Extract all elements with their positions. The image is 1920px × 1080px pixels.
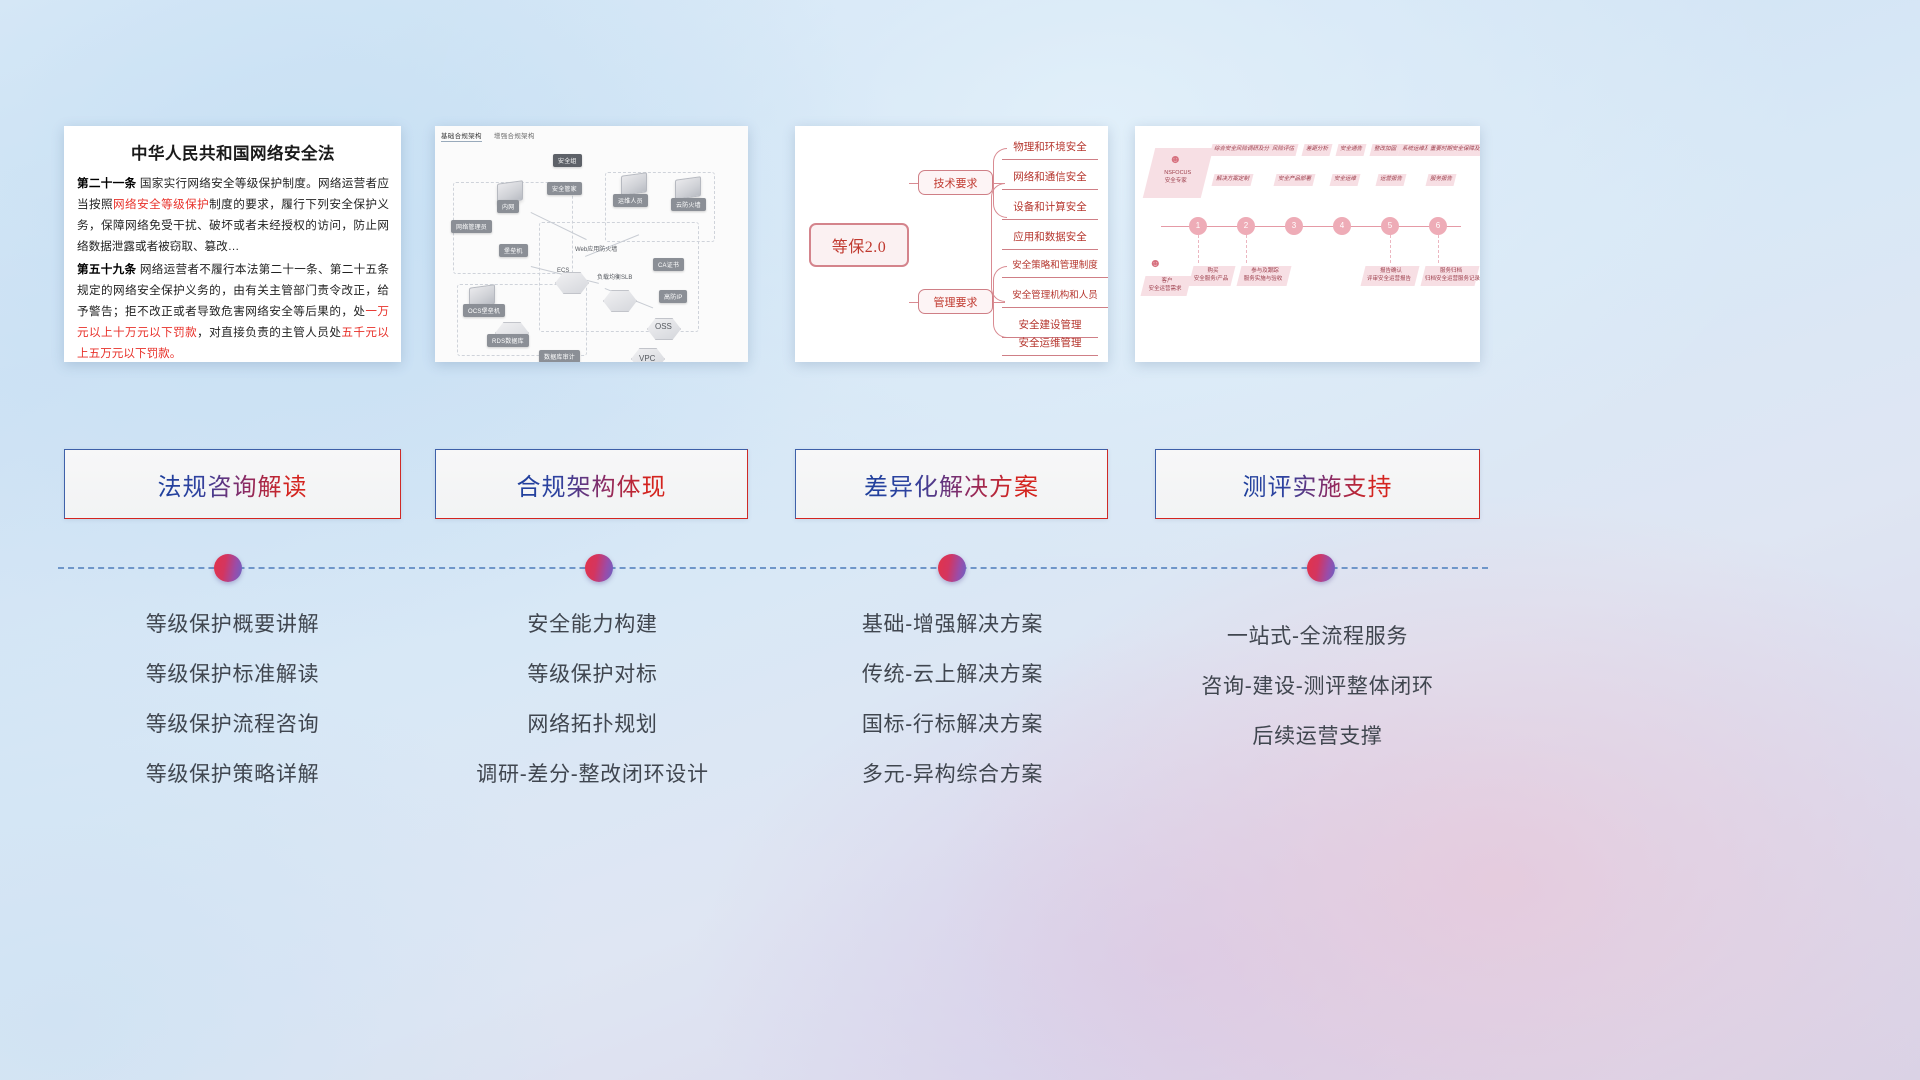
card-mindmap-djcp[interactable]: 等保2.0 技术要求 管理要求 物理和环境安全 网络和通信安全 设备和计算安全 …: [795, 126, 1108, 362]
expert-person-icon: ☻: [1169, 152, 1182, 166]
section-header-compliance-architecture[interactable]: 合规架构体现: [435, 449, 748, 519]
section-header-label: 法规咨询解读: [158, 467, 308, 502]
timeline-dot-2[interactable]: [585, 554, 613, 582]
arch-node-label: CA证书: [653, 258, 684, 271]
list-item: 国标-行标解决方案: [790, 700, 1115, 750]
bottom-tag-sub: 评审安全运营报告: [1365, 276, 1413, 284]
arch-node-label: 网络管理员: [451, 220, 492, 233]
bottom-tag-title: 服务归档: [1427, 268, 1475, 276]
bottom-tag: 购买 安全服务/产品: [1189, 266, 1236, 286]
arch-node-label: 安全管家: [547, 182, 582, 195]
step-number: 3: [1285, 217, 1303, 235]
arch-node-label: RDS数据库: [487, 334, 529, 347]
architecture-diagram: 基础合规架构 增强合规架构 安全组 内网 网络管理员 堡垒机: [435, 126, 748, 362]
arch-node-label: 内网: [497, 200, 519, 213]
section-header-label: 差异化解决方案: [864, 467, 1039, 502]
mindmap: 等保2.0 技术要求 管理要求 物理和环境安全 网络和通信安全 设备和计算安全 …: [795, 126, 1108, 362]
step-connector: [1438, 235, 1439, 263]
timeline: [58, 567, 1488, 569]
section-headers-row: 法规咨询解读 合规架构体现 差异化解决方案 测评实施支持: [0, 449, 1920, 519]
tab-basic-architecture[interactable]: 基础合规架构: [441, 133, 482, 142]
mindmap-leaf: 网络和通信安全: [1002, 168, 1098, 190]
arch-node-label: 堡垒机: [499, 244, 528, 257]
card-service-flow[interactable]: NSFOCUS 安全专家 ☻ 综合安全风险调研及分析 风险评估 差距分析 安全通…: [1135, 126, 1480, 362]
mindmap-leaf: 设备和计算安全: [1002, 198, 1098, 220]
top-tag: 差距分析: [1302, 144, 1333, 156]
section-header-differentiated-solution[interactable]: 差异化解决方案: [795, 449, 1108, 519]
article-59-label: 第五十九条: [77, 263, 136, 276]
architecture-tabs[interactable]: 基础合规架构 增强合规架构: [441, 130, 545, 140]
mid-tag: 解决方案定制: [1212, 174, 1254, 186]
bottom-tag-title: 报告确认: [1367, 268, 1415, 276]
arch-node-label: ECS: [557, 268, 569, 274]
top-cards-row: 中华人民共和国网络安全法 第二十一条 国家实行网络安全等级保护制度。网络运营者应…: [0, 126, 1920, 362]
bottom-tag-title: 参与及跟踪: [1243, 268, 1287, 276]
mindmap-root-link-mgmt: [909, 302, 918, 303]
timeline-dot-3[interactable]: [938, 554, 966, 582]
mindmap-branch-technical: 技术要求: [918, 170, 993, 195]
card-cybersecurity-law[interactable]: 中华人民共和国网络安全法 第二十一条 国家实行网络安全等级保护制度。网络运营者应…: [64, 126, 401, 362]
mid-tag: 服务报告: [1426, 174, 1457, 186]
customer-badge: 客户 安全运营需求: [1141, 276, 1192, 296]
section-header-label: 测评实施支持: [1243, 467, 1393, 502]
step-connector: [1198, 235, 1199, 263]
watermark-security-group: 安全组: [553, 154, 582, 167]
arch-node-label: Web应用防火墙: [575, 244, 617, 253]
expert-sub: 安全专家: [1150, 178, 1202, 186]
list-item: 调研-差分-整改闭环设计: [420, 750, 765, 800]
section-header-regulation-consulting[interactable]: 法规咨询解读: [64, 449, 401, 519]
step-number: 6: [1429, 217, 1447, 235]
list-item: 多元-异构综合方案: [790, 750, 1115, 800]
top-tag: 风险评估: [1268, 144, 1299, 156]
service-flow-diagram: NSFOCUS 安全专家 ☻ 综合安全风险调研及分析 风险评估 差距分析 安全通…: [1135, 126, 1480, 362]
arch-node-label: 负载均衡SLB: [597, 272, 632, 281]
mindmap-root-node: 等保2.0: [809, 223, 909, 267]
step-connector: [1390, 235, 1391, 263]
arch-node-label: VPC: [639, 354, 655, 362]
list-item: 一站式-全流程服务: [1140, 612, 1495, 662]
bottom-tag-sub: 服务实施与验收: [1241, 276, 1285, 284]
list-item: 后续运营支撑: [1140, 712, 1495, 762]
timeline-dashed-line: [58, 567, 1488, 569]
list-item: 网络拓扑规划: [420, 700, 765, 750]
bottom-tag-title: 购买: [1195, 268, 1231, 276]
list-item: 等级保护标准解读: [64, 650, 401, 700]
timeline-dot-1[interactable]: [214, 554, 242, 582]
mindmap-leaf: 安全运维管理: [1002, 334, 1098, 356]
node-icon-3: [675, 176, 701, 200]
bottom-tag: 参与及跟踪 服务实施与验收: [1237, 266, 1292, 286]
mid-tag: 运营报告: [1376, 174, 1407, 186]
card-compliance-architecture[interactable]: 基础合规架构 增强合规架构 安全组 内网 网络管理员 堡垒机: [435, 126, 748, 362]
customer-person-icon: ☻: [1149, 256, 1162, 270]
arch-node-label: 云防火墙: [671, 198, 706, 211]
step-connector: [1246, 235, 1247, 263]
section-header-assessment-support[interactable]: 测评实施支持: [1155, 449, 1480, 519]
arch-node-label: 数据库审计: [539, 350, 580, 362]
step-number: 2: [1237, 217, 1255, 235]
article-21-label: 第二十一条: [77, 177, 136, 190]
mindmap-leaf: 安全管理机构和人员: [1002, 286, 1108, 308]
mindmap-branch-management: 管理要求: [918, 289, 993, 314]
bottom-tag: 服务归档 归档安全运营服务记录: [1421, 266, 1480, 286]
mindmap-leaf: 应用和数据安全: [1002, 228, 1098, 250]
arch-node-label: 运维人员: [613, 194, 648, 207]
bottom-tag-sub: 安全服务/产品: [1193, 276, 1229, 284]
tab-enhanced-architecture[interactable]: 增强合规架构: [494, 133, 535, 140]
list-item: 传统-云上解决方案: [790, 650, 1115, 700]
list-item: 等级保护流程咨询: [64, 700, 401, 750]
law-title: 中华人民共和国网络安全法: [77, 140, 389, 164]
list-column-assessment-support: 一站式-全流程服务 咨询-建设-测评整体闭环 后续运营支撑: [1140, 612, 1495, 762]
mindmap-leaf: 物理和环境安全: [1002, 138, 1098, 160]
mindmap-root-link-tech: [909, 183, 918, 184]
node-icon-2: [621, 172, 647, 196]
list-item: 等级保护概要讲解: [64, 600, 401, 650]
law-text-block: 中华人民共和国网络安全法 第二十一条 国家实行网络安全等级保护制度。网络运营者应…: [64, 126, 401, 362]
list-column-regulation-consulting: 等级保护概要讲解 等级保护标准解读 等级保护流程咨询 等级保护策略详解: [64, 600, 401, 800]
top-tag: 整改加固: [1370, 144, 1401, 156]
bottom-tag-sub: 归档安全运营服务记录: [1425, 276, 1473, 284]
step-number: 4: [1333, 217, 1351, 235]
list-item: 基础-增强解决方案: [790, 600, 1115, 650]
step-number: 5: [1381, 217, 1399, 235]
law-article-59: 第五十九条 网络运营者不履行本法第二十一条、第二十五条规定的网络安全保护义务的，…: [77, 259, 389, 362]
top-tag: 安全通告: [1336, 144, 1367, 156]
mindmap-leaf: 安全策略和管理制度: [1002, 256, 1108, 278]
bottom-tag: 报告确认 评审安全运营报告: [1361, 266, 1420, 286]
mid-tag: 安全产品部署: [1274, 174, 1316, 186]
customer-label: 客户: [1147, 278, 1187, 286]
list-item: 咨询-建设-测评整体闭环: [1140, 662, 1495, 712]
article-59-body-2: ，对直接负责的主管人员处: [197, 326, 341, 339]
expert-title: NSFOCUS: [1152, 170, 1204, 178]
section-header-label: 合规架构体现: [517, 467, 667, 502]
top-tag: 重要时期安全保障及应急响应: [1426, 144, 1480, 156]
arch-node-label: OCS堡垒机: [463, 304, 505, 317]
step-number: 1: [1189, 217, 1207, 235]
list-column-differentiated-solution: 基础-增强解决方案 传统-云上解决方案 国标-行标解决方案 多元-异构综合方案: [790, 600, 1115, 800]
list-item: 等级保护策略详解: [64, 750, 401, 800]
list-item: 安全能力构建: [420, 600, 765, 650]
law-article-21: 第二十一条 国家实行网络安全等级保护制度。网络运营者应当按照网络安全等级保护制度…: [77, 173, 389, 257]
list-column-compliance-architecture: 安全能力构建 等级保护对标 网络拓扑规划 调研-差分-整改闭环设计: [420, 600, 765, 800]
timeline-dot-4[interactable]: [1307, 554, 1335, 582]
mid-tag: 安全运维: [1330, 174, 1361, 186]
article-21-highlight: 网络安全等级保护: [113, 198, 209, 211]
arch-node-label: 高防IP: [659, 290, 687, 303]
arch-node-label: OSS: [655, 322, 672, 331]
customer-sub: 安全运营需求: [1145, 286, 1185, 294]
list-item: 等级保护对标: [420, 650, 765, 700]
